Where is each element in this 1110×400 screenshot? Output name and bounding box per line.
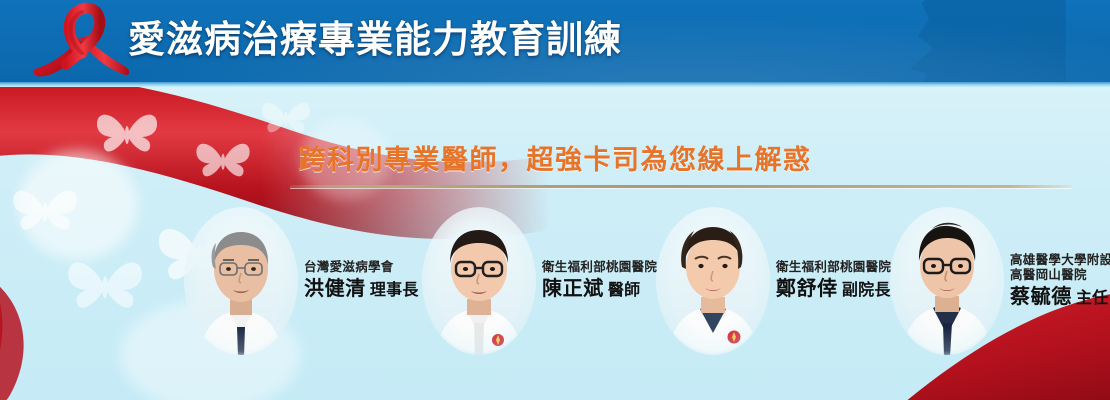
doctor-list: 台灣愛滋病學會 洪健清理事長 xyxy=(182,202,1110,362)
doctor-fullname-1: 洪健清 xyxy=(304,278,366,300)
header-bar: 愛滋病治療專業能力教育訓練 xyxy=(0,0,1110,82)
header-bottom-strip xyxy=(0,82,1110,87)
doctor-role-1: 理事長 xyxy=(370,282,419,299)
doctor-fullname-4: 蔡毓德 xyxy=(1010,286,1072,308)
doctor-role-3: 副院長 xyxy=(842,282,891,299)
main-headline: 跨科別專業醫師，超強卡司為您線上解惑 xyxy=(0,138,1110,177)
doctor-role-2: 醫師 xyxy=(608,282,641,299)
doctor-portrait-2 xyxy=(420,207,538,357)
doctor-card-2: 衛生福利部桃園醫院 陳正斌醫師 xyxy=(420,202,657,362)
butterfly-decoration xyxy=(62,250,148,320)
doctor-name-2: 陳正斌醫師 xyxy=(542,276,657,304)
headline-divider xyxy=(290,185,1072,188)
header-title: 愛滋病治療專業能力教育訓練 xyxy=(128,14,622,66)
doctor-portrait-4 xyxy=(888,207,1006,357)
doctor-portrait-1 xyxy=(182,207,300,357)
doctor-org-2: 衛生福利部桃園醫院 xyxy=(542,260,657,275)
doctor-fullname-3: 鄭舒倖 xyxy=(776,278,838,300)
aids-red-ribbon-icon xyxy=(30,0,138,82)
doctor-name-1: 洪健清理事長 xyxy=(304,276,419,304)
doctor-card-1: 台灣愛滋病學會 洪健清理事長 xyxy=(182,202,419,362)
doctor-name-4: 蔡毓德主任 xyxy=(1010,284,1110,312)
doctor-org-1: 台灣愛滋病學會 xyxy=(304,260,419,275)
doctor-name-3: 鄭舒倖副院長 xyxy=(776,276,891,304)
doctor-org-4-line-1: 高雄醫學大學附設 xyxy=(1010,253,1110,268)
doctor-org-3: 衛生福利部桃園醫院 xyxy=(776,260,891,275)
doctor-portrait-3 xyxy=(654,207,772,357)
doctor-card-4: 高雄醫學大學附設 高醫岡山醫院 蔡毓德主任 xyxy=(888,202,1110,362)
hiv-training-banner: 愛滋病治療專業能力教育訓練 跨科別專業醫師，超強卡司為您線上解惑 xyxy=(0,0,1110,400)
doctor-org-4-line-2: 高醫岡山醫院 xyxy=(1010,268,1110,283)
doctor-card-3: 衛生福利部桃園醫院 鄭舒倖副院長 xyxy=(654,202,891,362)
doctor-role-4: 主任 xyxy=(1076,290,1109,307)
butterfly-decoration xyxy=(258,95,314,140)
doctor-fullname-2: 陳正斌 xyxy=(542,278,604,300)
